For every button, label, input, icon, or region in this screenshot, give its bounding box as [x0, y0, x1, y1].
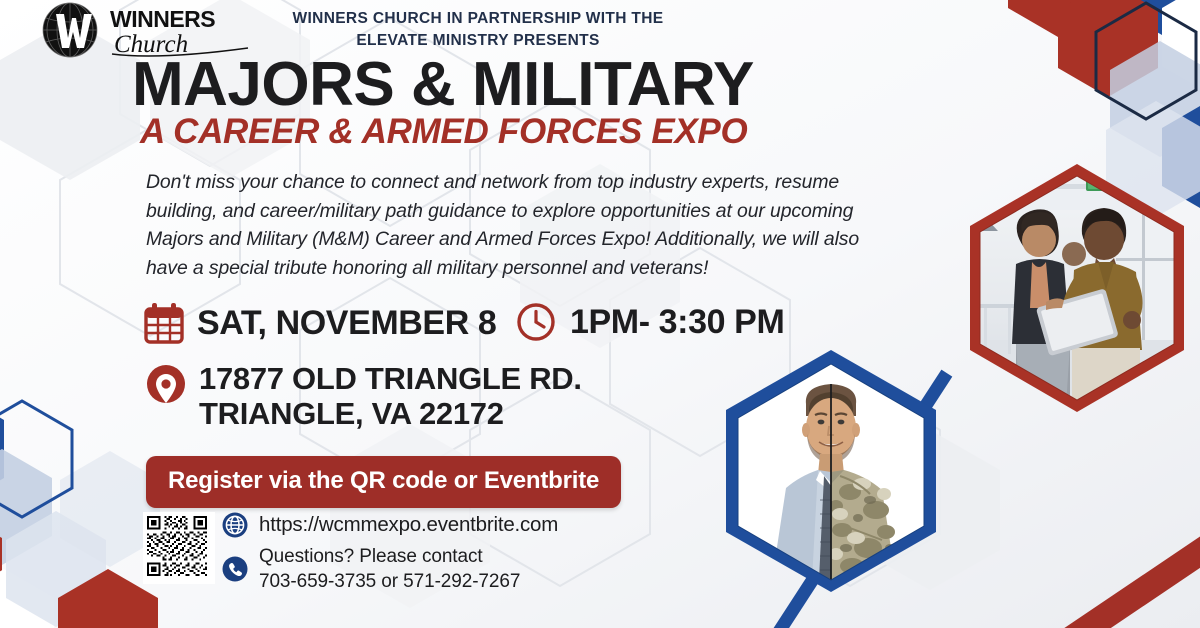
phone-block: Questions? Please contact 703-659-3735 o…	[259, 544, 520, 595]
contact-block: https://wcmmexpo.eventbrite.com Question…	[222, 512, 558, 599]
phone-line: Questions? Please contact 703-659-3735 o…	[222, 544, 558, 595]
address-line-2: TRIANGLE, VA 22172	[199, 397, 582, 432]
register-button[interactable]: Register via the QR code or Eventbrite	[146, 456, 621, 508]
clock-icon	[516, 302, 556, 342]
event-description: Don't miss your chance to connect and ne…	[146, 168, 862, 282]
website-line[interactable]: https://wcmmexpo.eventbrite.com	[222, 512, 558, 538]
address-block: 17877 OLD TRIANGLE RD. TRIANGLE, VA 2217…	[199, 362, 582, 431]
event-flyer: WINNERS Church WINNERS CHURCH IN PARTNER…	[0, 0, 1200, 628]
address-row: 17877 OLD TRIANGLE RD. TRIANGLE, VA 2217…	[146, 362, 582, 431]
photo-civilian-military-split	[700, 342, 962, 628]
event-subtitle: A CAREER & ARMED FORCES EXPO	[140, 114, 747, 149]
kicker-line-1: WINNERS CHURCH IN PARTNERSHIP WITH THE	[268, 8, 688, 30]
phone-numbers: 703-659-3735 or 571-292-7267	[259, 569, 520, 594]
address-line-1: 17877 OLD TRIANGLE RD.	[199, 362, 582, 397]
qr-code[interactable]	[143, 512, 215, 584]
date-row: SAT, NOVEMBER 8	[144, 302, 496, 344]
calendar-icon	[144, 302, 184, 344]
event-title: MAJORS & MILITARY	[132, 54, 754, 116]
time-row: 1PM- 3:30 PM	[516, 302, 784, 342]
questions-label: Questions? Please contact	[259, 544, 520, 569]
event-time: 1PM- 3:30 PM	[570, 304, 784, 341]
kicker-text: WINNERS CHURCH IN PARTNERSHIP WITH THE E…	[268, 8, 688, 53]
globe-icon	[222, 512, 248, 538]
photo-office-professionals	[946, 158, 1200, 458]
map-pin-icon	[146, 365, 186, 411]
event-date: SAT, NOVEMBER 8	[197, 305, 496, 342]
svg-text:WINNERS: WINNERS	[110, 6, 215, 32]
website-url[interactable]: https://wcmmexpo.eventbrite.com	[259, 513, 558, 537]
phone-icon	[222, 556, 248, 582]
